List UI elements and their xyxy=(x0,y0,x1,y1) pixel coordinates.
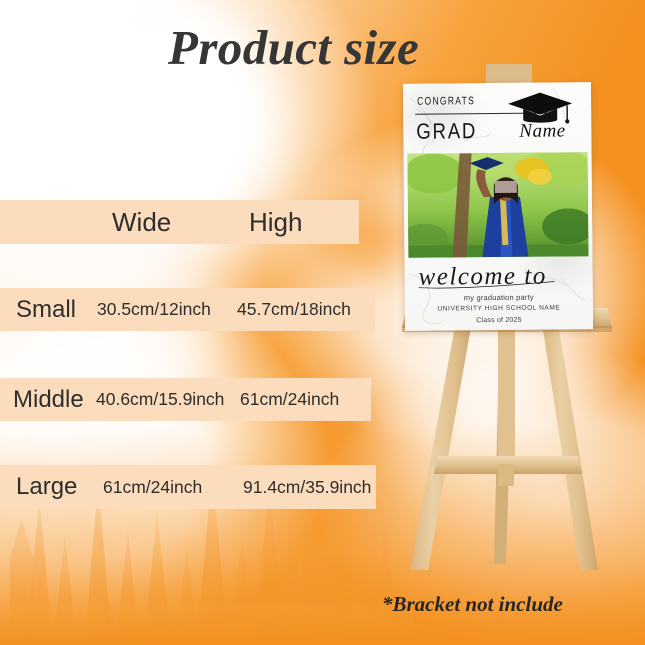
product-display: CONGRATS GRAD Name xyxy=(382,64,630,584)
row-high-middle: 61cm/24inch xyxy=(240,389,371,410)
header-cell-wide: Wide xyxy=(112,207,249,238)
row-label-middle: Middle xyxy=(0,386,96,414)
sign-line-1: my graduation party xyxy=(405,292,593,303)
header-cell-high: High xyxy=(249,207,359,238)
sign-top-panel: CONGRATS GRAD Name xyxy=(403,82,592,151)
row-wide-large: 61cm/24inch xyxy=(103,477,243,498)
bracket-disclaimer: *Bracket not include xyxy=(382,592,563,617)
infographic-canvas: Product size Wide High Small 30.5cm/12in… xyxy=(0,0,645,645)
sign-line-3: Class of 2025 xyxy=(405,316,593,325)
sign-bottom-panel: welcome to my graduation party UNIVERSIT… xyxy=(404,259,593,331)
row-high-small: 45.7cm/18inch xyxy=(237,299,375,320)
row-high-large: 91.4cm/35.9inch xyxy=(243,477,376,498)
name-placeholder-text: Name xyxy=(519,120,566,142)
graduate-photo xyxy=(408,152,589,258)
welcome-script-text: welcome to xyxy=(414,261,584,292)
sign-line-2: UNIVERSITY HIGH SCHOOL NAME xyxy=(405,304,593,313)
table-row: Small 30.5cm/12inch 45.7cm/18inch xyxy=(0,288,375,331)
congrats-text: CONGRATS xyxy=(417,95,475,108)
row-label-small: Small xyxy=(0,296,97,324)
row-wide-middle: 40.6cm/15.9inch xyxy=(96,389,240,410)
table-row: Large 61cm/24inch 91.4cm/35.9inch xyxy=(0,465,376,509)
graduation-sign: CONGRATS GRAD Name xyxy=(403,82,593,331)
table-row: Middle 40.6cm/15.9inch 61cm/24inch xyxy=(0,378,371,421)
row-wide-small: 30.5cm/12inch xyxy=(97,299,237,320)
grad-text: GRAD xyxy=(416,118,477,145)
row-label-large: Large xyxy=(0,473,103,501)
table-header-row: Wide High xyxy=(0,200,359,244)
